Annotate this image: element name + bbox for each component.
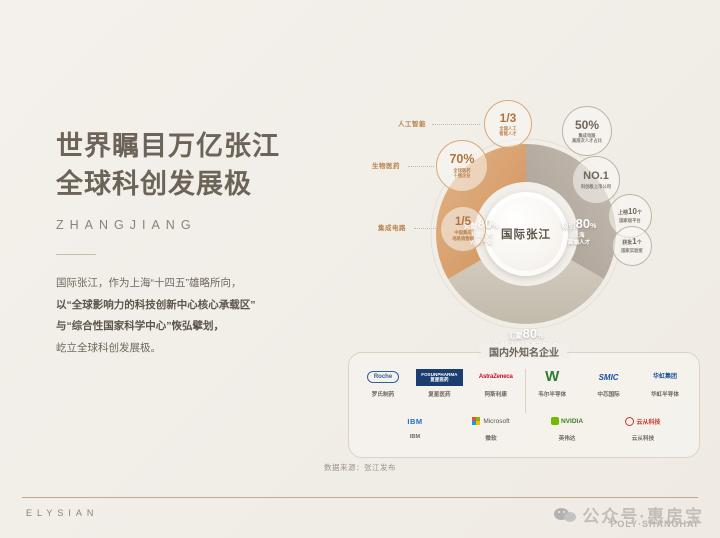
company-roche: Roche 罗氏制药 [357, 367, 409, 398]
company-cloudwalk: 云从科技 云从科技 [617, 411, 669, 442]
bubble-pharma-top10-caption: 全球医药十强企业 [453, 168, 470, 179]
footer-divider [22, 497, 698, 498]
hero-block: 世界瞩目万亿张江 全球科创发展极 ZHANGJIANG 国际张江，作为上海“十四… [56, 128, 356, 359]
side-tag-ai: 人工智能 [398, 118, 426, 128]
bubble-ic-talent-value: 50% [575, 119, 599, 131]
watermark-subtext: POLY·SHANGHAI [610, 519, 698, 529]
company-nvidia: NVIDIA 英伟达 [541, 411, 593, 442]
bubble-ai-talent: 1/3 全国人工智能人才 [484, 100, 532, 148]
company-fosun-pharma: FOSUNPHARMA复星医药 复星医药 [413, 367, 465, 398]
segment-label-talent: 吸引80% 上海高端人才 [546, 216, 612, 247]
divider [56, 254, 96, 255]
page-title: 世界瞩目万亿张江 [56, 128, 356, 164]
bubble-chip-share: 1/5 中国集成电路销售额 [440, 206, 486, 252]
page-title-line2: 全球科创发展极 [56, 166, 356, 202]
microsoft-logo: Microsoft [472, 411, 509, 431]
company-fosun-pharma-label: 复星医药 [428, 390, 450, 398]
bubble-approved-one-caption: 国家实验室 [621, 248, 642, 253]
side-tag-integrated-circuit: 集成电路 [378, 222, 406, 232]
company-row-1: Roche 罗氏制药 FOSUNPHARMA复星医药 复星医药 AstraZen… [357, 367, 691, 398]
company-huahong: 华虹集团 华虹半导体 [639, 367, 691, 398]
bubble-ic-talent: 50% 集成电路高层次人才占比 [562, 106, 612, 156]
bubble-chip-share-value: 1/5 [455, 217, 471, 229]
bubble-rank-no1-caption: 科创板上市公司 [581, 184, 611, 189]
bubble-chip-share-caption: 中国集成电路销售额 [452, 230, 473, 241]
fosun-pharma-logo: FOSUNPHARMA复星医药 [416, 367, 462, 387]
huahong-logo: 华虹集团 [653, 367, 677, 387]
nvidia-logo: NVIDIA [551, 411, 583, 431]
astrazeneca-logo: AstraZeneca [479, 367, 513, 387]
bubble-pharma-top10: 70% 全球医药十强企业 [436, 140, 488, 192]
side-tag-biomedicine: 生物医药 [372, 160, 400, 170]
company-cloudwalk-label: 云从科技 [632, 434, 654, 442]
company-nvidia-label: 英伟达 [559, 434, 576, 442]
company-walsin: W 韦尔半导体 [526, 367, 578, 398]
bubble-ai-talent-caption: 全国人工智能人才 [499, 126, 516, 137]
wechat-icon [554, 506, 576, 524]
paragraph-line-3: 与“综合性国家科学中心”恢弘擘划， [56, 316, 356, 338]
company-ibm: IBM IBM [389, 411, 441, 442]
company-astrazeneca-label: 阿斯利康 [485, 390, 507, 398]
bubble-approved-one-value: 获批1个 [622, 238, 641, 246]
company-microsoft-label: 微软 [485, 434, 496, 442]
company-roche-label: 罗氏制药 [372, 390, 394, 398]
bubble-listed-ten-value: 上榜10个 [618, 208, 642, 216]
companies-panel-title: 国内外知名企业 [479, 344, 569, 359]
page-subtitle: ZHANGJIANG [56, 218, 356, 232]
paragraph-line-4: 屹立全球科创发展极。 [56, 338, 356, 360]
company-row-2: IBM IBM Microsoft 微软 NVIDIA 英伟达 云从科技 云从科… [389, 411, 669, 442]
roche-logo: Roche [367, 367, 399, 387]
bubble-rank-no1: NO.1 科创板上市公司 [572, 156, 620, 204]
paragraph-line-2: 以“全球影响力的科技创新中心核心承载区” [56, 295, 356, 317]
bubble-ic-talent-caption: 集成电路高层次人才占比 [572, 133, 602, 144]
ibm-logo: IBM [407, 411, 422, 431]
walsin-logo: W [545, 367, 559, 387]
company-smic-label: 中芯国际 [597, 390, 619, 398]
segment-value-institutions: 汇聚80% [466, 326, 586, 342]
paragraph-line-1: 国际张江，作为上海“十四五”雄略所向， [56, 273, 356, 295]
company-walsin-label: 韦尔半导体 [538, 390, 566, 398]
connector-line-ai [432, 124, 480, 125]
company-microsoft: Microsoft 微软 [465, 411, 517, 442]
companies-panel: 国内外知名企业 Roche 罗氏制药 FOSUNPHARMA复星医药 复星医药 … [348, 352, 700, 458]
cloudwalk-logo: 云从科技 [625, 411, 660, 431]
hero-paragraph: 国际张江，作为上海“十四五”雄略所向， 以“全球影响力的科技创新中心核心承载区”… [56, 273, 356, 359]
bubble-listed-ten-caption: 国家级平台 [619, 218, 640, 223]
segment-sub-talent: 上海高端人才 [546, 233, 612, 247]
company-huahong-label: 华虹半导体 [651, 390, 679, 398]
company-smic: SMIC 中芯国际 [583, 367, 635, 398]
donut-visualization: 国际张江 贡献80% 上海三大先导产业 吸引80% 上海高端人才 汇聚80% 科… [340, 78, 712, 340]
smic-logo: SMIC [599, 367, 619, 387]
brand-logo: ELYSIAN [26, 508, 98, 518]
bubble-pharma-top10-value: 70% [449, 153, 474, 166]
company-ibm-label: IBM [410, 434, 420, 440]
bubble-ai-talent-value: 1/3 [500, 112, 517, 124]
segment-value-talent: 吸引80% [546, 216, 612, 232]
bubble-approved-one: 获批1个 国家实验室 [612, 226, 652, 266]
bubble-rank-no1-value: NO.1 [583, 171, 609, 182]
company-astrazeneca: AstraZeneca 阿斯利康 [470, 367, 522, 398]
poster-canvas: 世界瞩目万亿张江 全球科创发展极 ZHANGJIANG 国际张江，作为上海“十四… [0, 0, 720, 538]
source-note: 数据来源：张江发布 [0, 462, 720, 473]
